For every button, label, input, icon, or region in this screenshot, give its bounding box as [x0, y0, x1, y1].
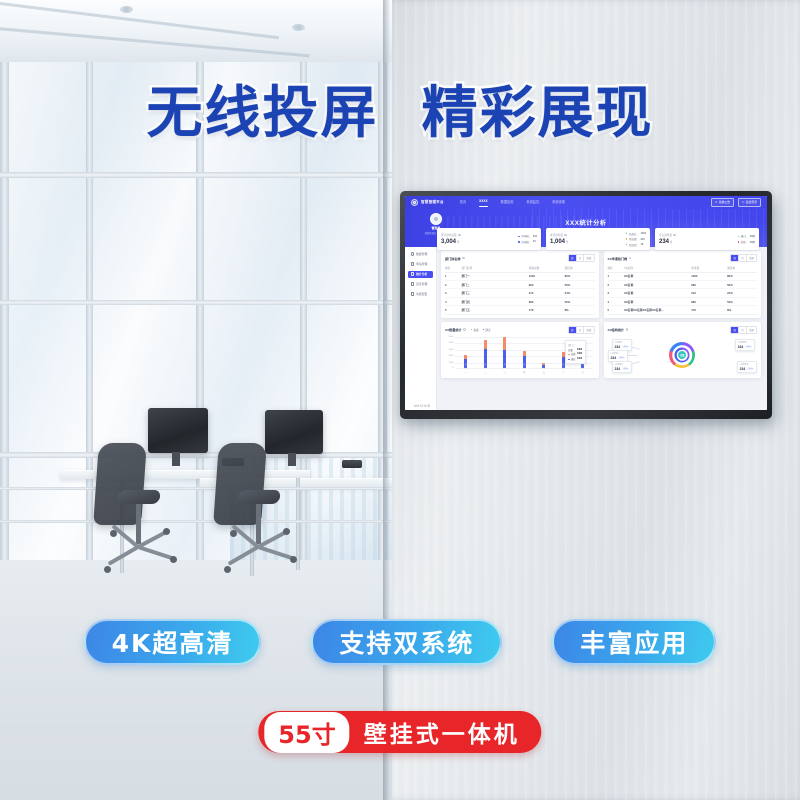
- callout-value: 234: [611, 356, 617, 360]
- panel-title: XX数量统计: [445, 327, 462, 332]
- stat-card-2[interactable]: 今日办件量 234件 通过：40件 失败：20件: [655, 228, 759, 250]
- stat-unit-2: 件: [670, 241, 673, 244]
- cell-rate: 24%: [565, 289, 595, 297]
- col-rate[interactable]: 通过率: [727, 265, 757, 273]
- tv-bezel: 智慧管理平台 首页 XXXX 数据应用 系统监控 系统设置 ✦ 系统公告: [400, 191, 772, 419]
- sidebar-item-settings[interactable]: 功能配置: [408, 291, 433, 299]
- item-rank-table: 排名 XX名称 申请量 通过率 1XX名称129380% 2XX名称96050%…: [608, 265, 758, 315]
- charts-row: XX数量统计 失败 通过 周 月 全部: [441, 322, 761, 378]
- dashboard: 智慧管理平台 首页 XXXX 数据应用 系统监控 系统设置 ✦ 系统公告: [405, 196, 767, 410]
- stat-cards: 累计办件总量 3,004件 月申报：234 日申报：23 本月办件量: [437, 228, 759, 250]
- legend-label: 失败: [474, 328, 479, 332]
- col-total[interactable]: 申请总数: [529, 265, 565, 273]
- stat-sub-label: 月申报：: [521, 234, 531, 238]
- range-month[interactable]: 月: [577, 255, 585, 261]
- dashboard-topbar: 智慧管理平台 首页 XXXX 数据应用 系统监控 系统设置 ✦ 系统公告: [405, 196, 767, 209]
- stat-sub-value: 18: [640, 243, 643, 246]
- stat-sub: 待处理：230: [626, 237, 646, 241]
- size-chip: 55寸: [264, 712, 349, 753]
- table-row[interactable]: 3部门三21024%: [445, 289, 595, 297]
- tooltip-label: 总量: [568, 348, 573, 352]
- monitor: [265, 410, 323, 454]
- dashboard-sidebar: 数据管理 申请管理 统计分析 目录管理 功能配置: [405, 247, 437, 411]
- help-icon[interactable]: [626, 328, 629, 331]
- table-header-row: 排名 部门名称 申请总数 通过率: [445, 265, 595, 273]
- callout-title: XX类型一: [615, 341, 629, 344]
- stat-sub: 通过：40件: [738, 234, 755, 238]
- y-tick: 5000: [449, 336, 454, 338]
- stat-value-1: 1,004: [550, 239, 565, 245]
- help-icon[interactable]: [462, 257, 465, 260]
- cell-total: 210: [691, 289, 727, 297]
- sidebar-item-label: 数据管理: [416, 252, 427, 256]
- range-all[interactable]: 全部: [747, 255, 756, 261]
- cell-name: 部门五: [461, 306, 528, 314]
- feature-pills: 4K超高清 支持双系统 丰富应用: [0, 619, 800, 665]
- tooltip-row: 通过2400: [568, 357, 582, 361]
- cell-rate: 52%: [565, 297, 595, 305]
- sidebar-item-label: 目录管理: [416, 282, 427, 286]
- help-icon[interactable]: [463, 328, 466, 331]
- range-month[interactable]: 月: [739, 327, 747, 333]
- x-tick: 部门三: [503, 362, 506, 374]
- tooltip-header: 部门三: [568, 343, 582, 347]
- callout-value: 234: [615, 367, 621, 371]
- stat-label-1: 本月办件量: [550, 233, 563, 237]
- x-tick: 部门二: [484, 362, 487, 374]
- range-segmented-control[interactable]: 周 月 全部: [730, 326, 757, 334]
- stat-sub-label: 已退回：: [629, 243, 639, 247]
- range-month[interactable]: 月: [739, 255, 747, 261]
- donut-callout-2[interactable]: XX类型三 23420%: [612, 361, 632, 373]
- table-row[interactable]: 5XX名称XX名称XX名称XX名称...1768%: [608, 306, 758, 314]
- legend-item-fail[interactable]: 失败: [471, 328, 479, 332]
- gear-icon: [411, 292, 415, 296]
- stat-card-0[interactable]: 累计办件总量 3,004件 月申报：234 日申报：23: [437, 228, 541, 250]
- y-tick: 0: [452, 367, 453, 369]
- x-tick: 部门四: [523, 362, 526, 374]
- x-axis: 部门一 部门二 部门三 部门四 部门五 部门六 部门七: [456, 362, 593, 374]
- tooltip-value: 1080: [577, 353, 582, 355]
- donut-center: 总量: [678, 351, 686, 359]
- nav-item-0[interactable]: 首页: [460, 199, 466, 206]
- nav-item-2[interactable]: 数据应用: [501, 199, 514, 206]
- range-all[interactable]: 全部: [584, 255, 593, 261]
- cell-rate: 8%: [565, 306, 595, 314]
- panel-title: 部门排名榜: [445, 256, 460, 261]
- callout-percent: 20%: [622, 346, 629, 349]
- wall-mounted-display: 智慧管理平台 首页 XXXX 数据应用 系统监控 系统设置 ✦ 系统公告: [400, 191, 772, 419]
- cell-name: XX名称: [624, 281, 691, 289]
- cell-rank: 1: [445, 272, 461, 280]
- cell-rank: 2: [445, 281, 461, 289]
- sidebar-item-catalog[interactable]: 目录管理: [408, 281, 433, 289]
- stat-sub: 月申报：234: [518, 234, 537, 238]
- cell-name: 部门四: [461, 297, 528, 305]
- stat-sub-value: 230: [640, 238, 644, 241]
- table-row[interactable]: 1部门一129380%: [445, 272, 595, 280]
- stat-sub-label: 已通过：: [629, 232, 639, 236]
- callout-title: XX类型三: [615, 363, 629, 366]
- legend-label: 通过: [485, 328, 490, 332]
- monitor: [148, 408, 208, 453]
- cell-rate: 50%: [565, 281, 595, 289]
- avatar: [430, 213, 442, 225]
- tooltip-row: 总量3480: [568, 348, 582, 352]
- cell-rank: 5: [608, 306, 624, 314]
- stat-card-1[interactable]: 本月办件量 1,004件 已通过：1004 待处理：230 已退回：18: [546, 228, 650, 250]
- y-tick: 2000: [449, 355, 454, 357]
- callout-value: 234: [740, 367, 746, 371]
- y-tick: 4000: [449, 342, 454, 344]
- tooltip-row: 失败1080: [568, 352, 582, 356]
- tooltip-value: 3480: [577, 349, 582, 351]
- form-icon: [411, 262, 415, 266]
- topbar-actions: ✦ 系统公告 ⎋ 退出登录: [711, 198, 761, 207]
- dashboard-content: 部门排名榜 周 月 全部: [437, 247, 767, 411]
- stat-sub-value: 1004: [640, 232, 646, 235]
- cell-total: 980: [691, 297, 727, 305]
- notice-button-label: 系统公告: [719, 200, 730, 204]
- stat-unit-0: 件: [457, 241, 460, 244]
- range-segmented-control[interactable]: 周 月 全部: [730, 254, 757, 262]
- cell-rate: 8%: [727, 306, 757, 314]
- help-icon[interactable]: [458, 234, 461, 237]
- sidebar-item-label: 功能配置: [416, 292, 427, 296]
- table-row[interactable]: 4XX名称98052%: [608, 297, 758, 305]
- cell-rank: 3: [445, 289, 461, 297]
- cell-total: 1293: [529, 272, 565, 280]
- range-all[interactable]: 全部: [584, 327, 593, 333]
- tables-row: 部门排名榜 周 月 全部: [441, 251, 761, 319]
- tooltip-value: 2400: [577, 358, 582, 360]
- app-title: 智慧管理平台: [421, 200, 444, 205]
- bell-icon: ✦: [715, 200, 717, 204]
- col-name: XX名称: [624, 265, 691, 273]
- logout-button[interactable]: ⎋ 退出登录: [738, 198, 761, 207]
- panel-item-rank: XX申请热门榜 周 月 全部: [604, 251, 762, 319]
- x-tick: 部门五: [542, 362, 545, 374]
- cell-rate: 24%: [727, 289, 757, 297]
- range-week[interactable]: 周: [731, 327, 739, 333]
- cell-name: XX名称: [624, 272, 691, 280]
- feature-pill-4k[interactable]: 4K超高清: [84, 619, 262, 665]
- col-rank: 排名: [608, 265, 624, 273]
- cell-name: 部门一: [461, 272, 528, 280]
- col-name: 部门名称: [461, 265, 528, 273]
- stat-sub: 失败：20件: [738, 240, 755, 244]
- cell-rate: 50%: [727, 281, 757, 289]
- table-row[interactable]: 1XX名称129380%: [608, 272, 758, 280]
- panel-donut-chart: XX结构统计 周 月 全部: [604, 322, 762, 378]
- stat-sub-value: 20件: [750, 240, 755, 244]
- tooltip-label: 通过: [571, 357, 576, 361]
- cell-total: 1293: [691, 272, 727, 280]
- table-row[interactable]: 3XX名称21024%: [608, 289, 758, 297]
- callout-title: XX类型四: [738, 341, 752, 344]
- x-tick: 部门一: [464, 362, 467, 374]
- exit-icon: ⎋: [742, 200, 744, 204]
- tv-brand-logo: MAXHUB: [414, 404, 430, 408]
- range-week[interactable]: 周: [569, 255, 577, 261]
- chart-legend: 失败 通过: [471, 328, 491, 332]
- stat-value-2: 234: [659, 239, 669, 245]
- cell-name: XX名称XX名称XX名称XX名称...: [624, 306, 691, 314]
- sidebar-item-analytics[interactable]: 统计分析: [408, 271, 433, 279]
- logout-button-label: 退出登录: [746, 200, 757, 204]
- stat-sub-label: 失败：: [741, 240, 749, 244]
- stat-sub: 日申报：23: [518, 240, 537, 244]
- top-navigation: 首页 XXXX 数据应用 系统监控 系统设置: [460, 199, 565, 206]
- donut-chart: 总量 XX类型一 23420% XX类型二 23420%: [608, 336, 758, 374]
- donut-callout-3[interactable]: XX类型四 23420%: [735, 339, 755, 351]
- help-icon[interactable]: [564, 234, 567, 237]
- nav-item-3[interactable]: 系统监控: [526, 199, 539, 206]
- help-icon[interactable]: [629, 257, 632, 260]
- stat-value-0: 3,004: [441, 239, 456, 245]
- y-tick: 3000: [449, 349, 454, 351]
- cell-rate: 80%: [727, 272, 757, 280]
- cell-name: XX名称: [624, 289, 691, 297]
- table-row[interactable]: 4部门四98052%: [445, 297, 595, 305]
- dept-rank-table: 排名 部门名称 申请总数 通过率 1部门一129380% 2部门二96050% …: [445, 265, 595, 315]
- range-month[interactable]: 月: [577, 327, 585, 333]
- cell-rank: 3: [608, 289, 624, 297]
- stat-sub-value: 40件: [750, 234, 755, 238]
- sidebar-item-label: 统计分析: [416, 272, 427, 276]
- floor: [0, 560, 392, 800]
- feature-pill-apps[interactable]: 丰富应用: [552, 619, 716, 665]
- cell-rank: 4: [608, 297, 624, 305]
- callout-title: XX类型二: [611, 352, 625, 355]
- notice-button[interactable]: ✦ 系统公告: [711, 198, 734, 207]
- range-week[interactable]: 周: [569, 327, 577, 333]
- cell-rank: 1: [608, 272, 624, 280]
- panel-bar-chart: XX数量统计 失败 通过 周 月 全部: [441, 322, 599, 378]
- y-axis: 5000 4000 3000 2000 1000 0: [445, 336, 455, 368]
- help-icon[interactable]: [673, 234, 676, 237]
- x-tick: 部门七: [581, 362, 584, 374]
- callout-percent: 20%: [618, 357, 625, 360]
- panel-title: XX结构统计: [608, 327, 625, 332]
- table-row[interactable]: 2部门二96050%: [445, 281, 595, 289]
- cell-rank: 4: [445, 297, 461, 305]
- stat-sub-value: 23: [533, 240, 536, 243]
- cell-total: 960: [691, 281, 727, 289]
- bar-chart: 5000 4000 3000 2000 1000 0: [445, 336, 595, 374]
- cell-total: 210: [529, 289, 565, 297]
- hero-title: XXX统计分析: [405, 218, 767, 227]
- donut-callout-4[interactable]: XX类型五 23420%: [737, 361, 757, 373]
- cell-total: 960: [529, 281, 565, 289]
- cell-name: XX名称: [624, 297, 691, 305]
- product-banner: 无线投屏 精彩展现 智慧管理平台 首页 XXXX 数据应用 系统监控: [0, 0, 800, 800]
- footer-badge-text: 壁挂式一体机: [364, 715, 520, 749]
- y-tick: 1000: [449, 362, 454, 364]
- cell-rank: 5: [445, 306, 461, 314]
- footer-badge: 55寸 壁挂式一体机: [258, 711, 541, 753]
- callout-title: XX类型五: [740, 363, 754, 366]
- col-total[interactable]: 申请量: [691, 265, 727, 273]
- sidebar-item-data[interactable]: 数据管理: [408, 251, 433, 259]
- cell-rate: 52%: [727, 297, 757, 305]
- cell-total: 176: [529, 306, 565, 314]
- stat-sub-value: 234: [533, 235, 537, 238]
- chart-icon: [411, 272, 415, 276]
- range-segmented-control[interactable]: 周 月 全部: [568, 254, 595, 262]
- sidebar-item-label: 申请管理: [416, 262, 427, 266]
- table-header-row: 排名 XX名称 申请量 通过率: [608, 265, 758, 273]
- nav-item-4[interactable]: 系统设置: [552, 199, 565, 206]
- range-segmented-control[interactable]: 周 月 全部: [568, 326, 595, 334]
- panel-title: XX申请热门榜: [608, 256, 628, 261]
- legend-item-pass[interactable]: 通过: [483, 328, 491, 332]
- stat-sub-label: 通过：: [741, 234, 749, 238]
- x-tick: 部门六: [562, 362, 565, 374]
- col-rank: 排名: [445, 265, 461, 273]
- stat-sub-label: 待处理：: [629, 237, 639, 241]
- folder-icon: [411, 282, 415, 286]
- stat-label-2: 今日办件量: [659, 233, 672, 237]
- stat-label-0: 累计办件总量: [441, 233, 457, 237]
- tv-screen: 智慧管理平台 首页 XXXX 数据应用 系统监控 系统设置 ✦ 系统公告: [405, 196, 767, 410]
- feature-pill-dual-system[interactable]: 支持双系统: [311, 619, 502, 665]
- table-row[interactable]: 2XX名称96050%: [608, 281, 758, 289]
- callout-value: 234: [738, 345, 744, 349]
- stat-unit-1: 件: [566, 241, 569, 244]
- col-rate[interactable]: 通过率: [565, 265, 595, 273]
- cell-total: 176: [691, 306, 727, 314]
- stat-sub-label: 日申报：: [521, 240, 531, 244]
- chart-tooltip: 部门三 总量3480 失败1080 通过2400: [565, 340, 586, 364]
- callout-percent: 20%: [745, 346, 752, 349]
- compass-icon: [411, 199, 418, 206]
- table-row[interactable]: 5部门五1768%: [445, 306, 595, 314]
- cell-name: 部门三: [461, 289, 528, 297]
- panel-dept-rank: 部门排名榜 周 月 全部: [441, 251, 599, 319]
- cell-name: 部门二: [461, 281, 528, 289]
- callout-percent: 20%: [622, 368, 629, 371]
- database-icon: [411, 252, 415, 256]
- page-title: 无线投屏 精彩展现: [0, 68, 800, 149]
- cell-rank: 2: [608, 281, 624, 289]
- range-week[interactable]: 周: [731, 255, 739, 261]
- nav-item-1[interactable]: XXXX: [479, 199, 488, 206]
- donut-center-label: 总量: [680, 353, 684, 357]
- tooltip-label: 失败: [571, 352, 576, 356]
- callout-value: 234: [615, 345, 621, 349]
- stat-sub: 已退回：18: [626, 243, 646, 247]
- range-all[interactable]: 全部: [747, 327, 756, 333]
- stat-sub: 已通过：1004: [626, 232, 646, 236]
- sidebar-item-apply[interactable]: 申请管理: [408, 261, 433, 269]
- cell-rate: 80%: [565, 272, 595, 280]
- callout-percent: 20%: [747, 368, 754, 371]
- cell-total: 980: [529, 297, 565, 305]
